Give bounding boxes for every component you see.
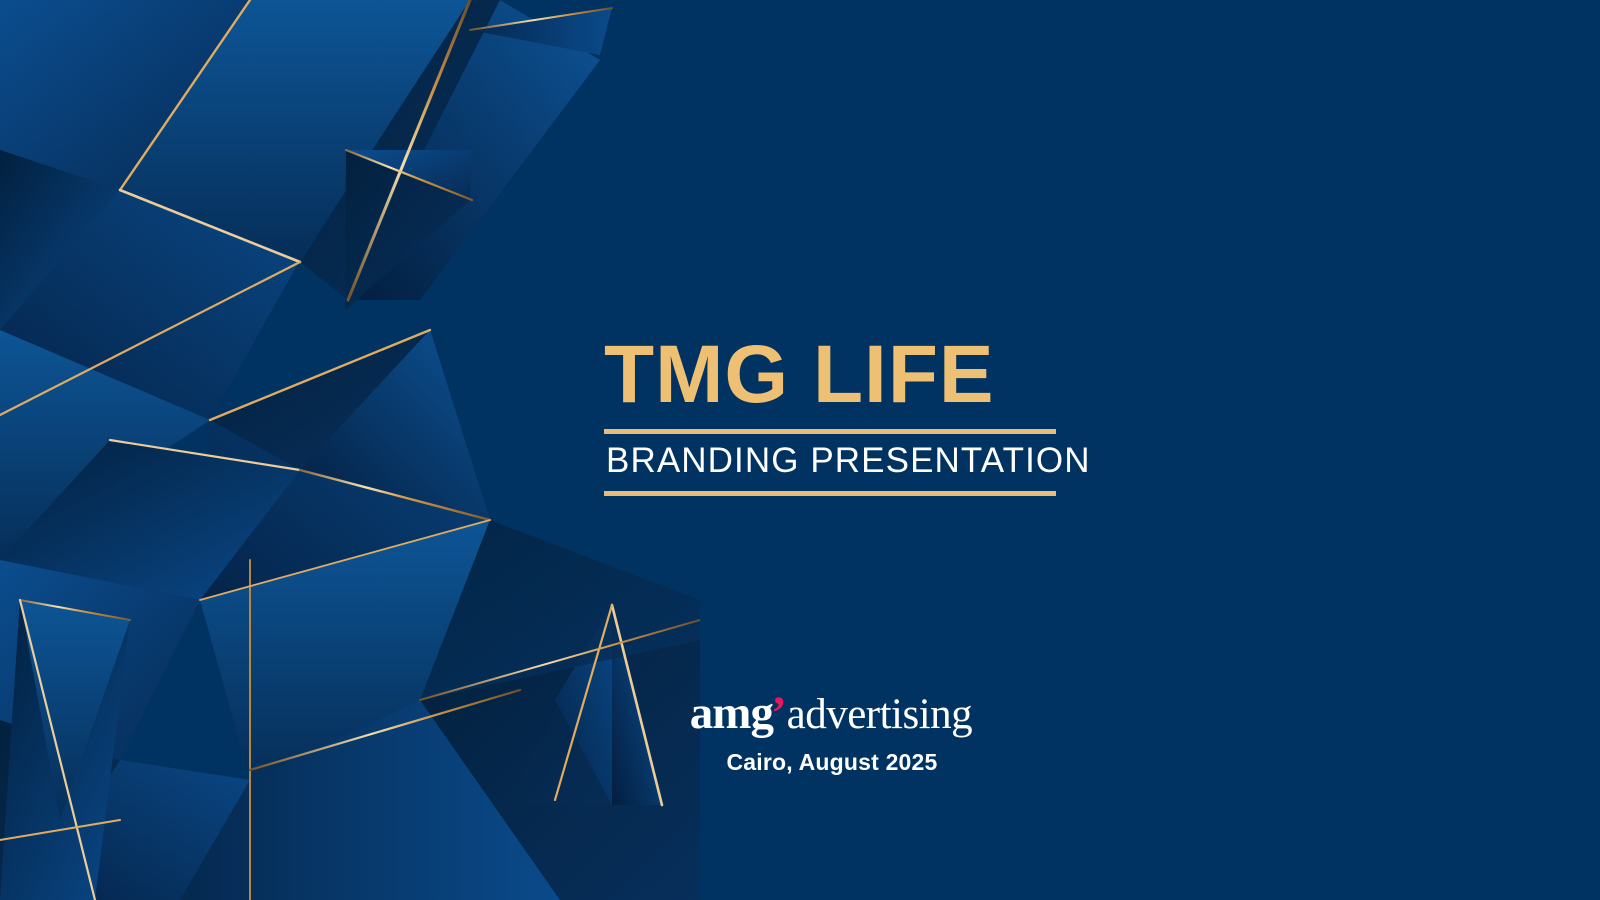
abstract-polygon-artwork: [0, 0, 700, 900]
presentation-title-slide: TMG LIFE BRANDING PRESENTATION amg’adver…: [0, 0, 1600, 900]
footer: amg’advertising Cairo, August 2025: [604, 690, 1060, 776]
page-subtitle: BRANDING PRESENTATION: [604, 434, 1060, 481]
logo-amg-text: amg: [690, 687, 773, 739]
date-location-line: Cairo, August 2025: [604, 749, 1060, 776]
logo-apostrophe-mark: ’: [771, 687, 787, 739]
page-title: TMG LIFE: [604, 336, 1060, 415]
logo-advertising-text: advertising: [787, 691, 973, 738]
title-divider-bottom: [604, 491, 1056, 496]
title-block: TMG LIFE BRANDING PRESENTATION: [604, 336, 1060, 496]
amg-advertising-logo: amg’advertising: [690, 690, 974, 737]
